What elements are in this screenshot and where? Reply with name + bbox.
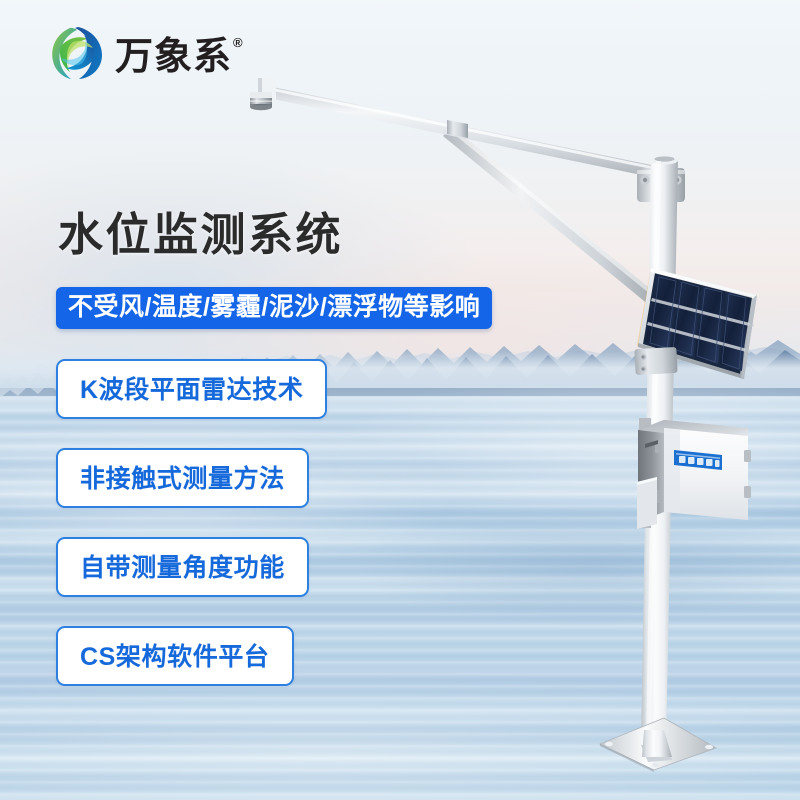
feature-list: K波段平面雷达技术 非接触式测量方法 自带测量角度功能 CS架构软件平台 — [56, 359, 327, 715]
registered-trademark-icon: ® — [233, 36, 244, 49]
instrument-enclosure — [637, 418, 751, 529]
promo-banner-canvas: 万象系 ® 水位监测系统 不受风/温度/雾霾/泥沙/漂浮物等影响 K波段平面雷达… — [0, 0, 800, 800]
solar-panel-pole-clamp — [634, 347, 677, 375]
brand-logo[interactable]: 万象系 ® — [48, 24, 244, 82]
radar-water-level-sensor — [250, 78, 276, 110]
feature-pill-1[interactable]: K波段平面雷达技术 — [56, 359, 327, 419]
feature-pill-3[interactable]: 自带测量角度功能 — [56, 537, 309, 597]
feature-pill-4[interactable]: CS架构软件平台 — [56, 626, 294, 686]
cantilever-arm — [268, 86, 666, 180]
feature-banner: 不受风/温度/雾霾/泥沙/漂浮物等影响 — [56, 287, 492, 329]
brand-name-text: 万象系 — [115, 38, 232, 76]
base-flange-plate — [600, 718, 716, 772]
page-title: 水位监测系统 — [58, 212, 343, 257]
swirl-globe-logo-icon — [48, 24, 106, 82]
feature-pill-2[interactable]: 非接触式测量方法 — [56, 448, 309, 508]
brand-name-wordmark: 万象系 ® — [115, 30, 244, 76]
